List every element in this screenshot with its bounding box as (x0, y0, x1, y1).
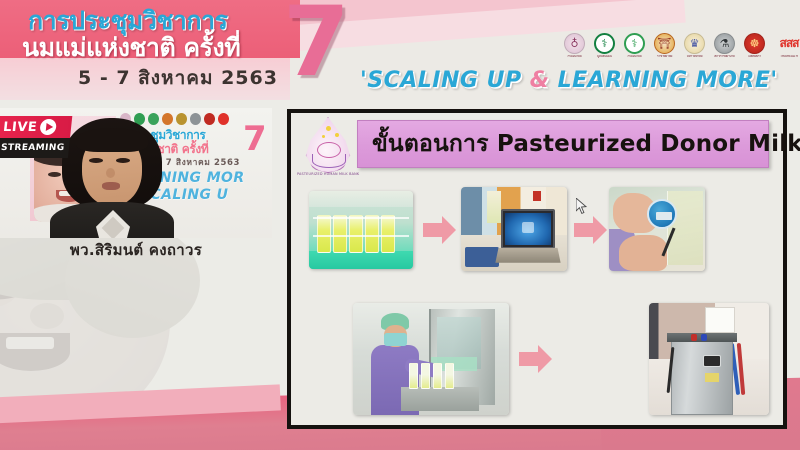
university-crest-icon: ♛ (684, 33, 705, 54)
arrow-shaft (423, 223, 443, 237)
process-arrow-1 (423, 216, 457, 244)
milk-drop-sparkle-2 (335, 133, 339, 137)
milk-drop-sparkle-3 (322, 135, 325, 138)
conference-edition-number: 7 (283, 0, 350, 90)
pasteurizer-machine-photo (649, 303, 769, 415)
milk-bottle (445, 363, 454, 389)
process-arrow-3 (519, 345, 553, 373)
nurse-face-mask (384, 333, 407, 346)
milk-bank-logo-ring-text: PASTEURIZED HUMAN MILK BANK (297, 172, 359, 176)
arrow-head (442, 216, 456, 244)
slide-content-panel: PASTEURIZED HUMAN MILK BANK ขั้นตอนการ P… (287, 109, 787, 429)
speaker-eye-right (116, 158, 130, 163)
slogan-part-after: LEARNING MORE' (549, 68, 777, 93)
process-arrow-2 (574, 216, 608, 244)
royal-college-pediatrics-logo: ⛩ ราชวิทยาลัย (652, 29, 677, 58)
watermark-baby-nose (30, 303, 64, 329)
backdrop-logo-5 (176, 113, 187, 125)
royal-crest-caption: กรมอนามัย (562, 55, 587, 59)
pediatrics-college-icon: ⛩ (654, 33, 675, 54)
public-health-icon: ⚕ (624, 33, 645, 54)
royal-crest-logo: ♁ กรมอนามัย (562, 29, 587, 58)
photo2-wall-red-marker (533, 191, 541, 201)
live-video-overlay[interactable]: การประชุมวิชาการ นมแม่แห่งชาติ ครั้งที่ … (0, 108, 272, 238)
thaihealth-sss-wordmark: สสส (780, 37, 799, 49)
sponsor-logo-strip: ♁ กรมอนามัย ⚕ มูลนิธินมแม่ ⚕ กรมอนามัย ⛩… (562, 26, 798, 60)
medical-council-caption: แพทยสภา (742, 55, 767, 59)
public-health-caption: กรมอนามัย (622, 55, 647, 59)
university-crest-caption: มหาวิทยาลัย (682, 55, 707, 59)
photo4-bottle-tray (401, 387, 479, 411)
milk-bottle (421, 363, 430, 389)
pasteurizer-yellow-label (705, 373, 719, 382)
watermark-baby-teeth (6, 337, 54, 349)
slide-title: ขั้นตอนการ Pasteurized Donor Milk (372, 126, 800, 162)
milk-bottle (433, 363, 442, 389)
photo1-green-floor (309, 251, 413, 269)
nursing-council-icon: ⚗ (714, 33, 735, 54)
milk-bottle (349, 215, 363, 253)
pediatrics-college-caption: ราชวิทยาลัย (652, 55, 677, 59)
thaihealth-sss-logo: สสส THAIHEALTH (772, 29, 800, 58)
backdrop-edition-number: 7 (243, 122, 267, 156)
laptop-screen (505, 213, 551, 245)
nursing-council-logo: ⚗ สภาการพยาบาล (712, 29, 737, 58)
laptop-data-logging-photo (461, 187, 567, 271)
pasteurizer-display-panel (703, 355, 721, 367)
slide-header: การประชุมวิชาการ นมแม่แห่งชาติ ครั้งที่ … (0, 0, 800, 100)
milk-drop-sparkle-1 (326, 126, 331, 131)
live-streaming-badge: LIVE STREAMING (0, 116, 72, 160)
photo1-background-top (309, 191, 413, 207)
royal-crest-icon: ♁ (564, 33, 585, 54)
slide-title-banner: ขั้นตอนการ Pasteurized Donor Milk (357, 120, 769, 168)
panel-header: PASTEURIZED HUMAN MILK BANK ขั้นตอนการ P… (291, 113, 783, 179)
medical-council-logo: ☸ แพทยสภา (742, 29, 767, 58)
rack-shelf-line (313, 235, 409, 237)
ministry-of-public-health-logo: ⚕ กรมอนามัย (622, 29, 647, 58)
thaihealth-caption: THAIHEALTH (772, 55, 800, 59)
play-icon (39, 119, 57, 135)
milk-bottle (381, 215, 395, 253)
pasteurizer-knob-blue (701, 334, 707, 341)
slogan-ampersand: & (530, 68, 550, 93)
arrow-head (538, 345, 552, 373)
conference-date-range: 5 - 7 สิงหาคม 2563 (78, 66, 278, 92)
backdrop-logo-7 (204, 113, 215, 125)
speaker-name-caption: พว.สิริมนต์ คงถาวร (0, 238, 272, 260)
laptop-lid (501, 209, 555, 249)
arrow-shaft (519, 352, 539, 366)
live-badge-row: LIVE (0, 116, 72, 138)
arrow-shaft (574, 223, 594, 237)
conference-title-line2: นมแม่แห่งชาติ ครั้งที่ (22, 33, 294, 63)
milk-drop-icon (305, 117, 351, 173)
temperature-probe-photo (609, 187, 705, 271)
live-label: LIVE (2, 120, 38, 135)
photo2-wall-poster (487, 191, 501, 223)
milk-bottles-in-racks-photo (309, 191, 413, 269)
arrow-head (593, 216, 607, 244)
photo2-mousepad (465, 247, 499, 267)
medical-council-icon: ☸ (744, 33, 765, 54)
milk-bottle (333, 215, 347, 253)
streaming-label: STREAMING (0, 143, 65, 153)
pasteurizer-knob-red (691, 334, 697, 341)
pasteurizer-cabinet (671, 339, 733, 415)
speaker-nose (106, 168, 115, 178)
speaker-bangs (76, 128, 148, 152)
streaming-label-row: STREAMING (0, 138, 70, 158)
backdrop-logo-8 (218, 113, 229, 125)
slogan-part-before: 'SCALING UP (360, 68, 530, 93)
breastfeeding-foundation-icon: ⚕ (594, 33, 615, 54)
milk-bottle (317, 215, 331, 253)
breastfeeding-foundation-caption: มูลนิธินมแม่ (592, 55, 617, 59)
nurse-loading-bottles-photo (353, 303, 509, 415)
cradling-hands-icon (312, 154, 346, 168)
digital-thermometer-icon (647, 199, 677, 229)
backdrop-logo-6 (190, 113, 201, 125)
photo3-hand-lower (619, 235, 667, 271)
milk-bottle (409, 363, 418, 389)
nursing-council-caption: สภาการพยาบาล (712, 55, 737, 59)
speaker-mouth (102, 182, 120, 190)
conference-slogan: 'SCALING UP & LEARNING MORE' (360, 68, 790, 98)
slide-stage: การประชุมวิชาการ นมแม่แห่งชาติ ครั้งที่ … (0, 0, 800, 450)
speaker-eye-left (89, 158, 103, 163)
speaker-video-figure (56, 118, 168, 238)
mouse-pointer (576, 198, 588, 216)
photo5-wall-sign (705, 307, 735, 333)
milk-bottle (365, 215, 379, 253)
thai-breastfeeding-foundation-logo: ⚕ มูลนิธินมแม่ (592, 29, 617, 58)
rack-shelf-line (313, 217, 409, 219)
university-crest-logo: ♛ มหาวิทยาลัย (682, 29, 707, 58)
pasteurized-human-milk-bank-logo: PASTEURIZED HUMAN MILK BANK (297, 115, 359, 177)
laptop-keyboard (495, 248, 560, 263)
